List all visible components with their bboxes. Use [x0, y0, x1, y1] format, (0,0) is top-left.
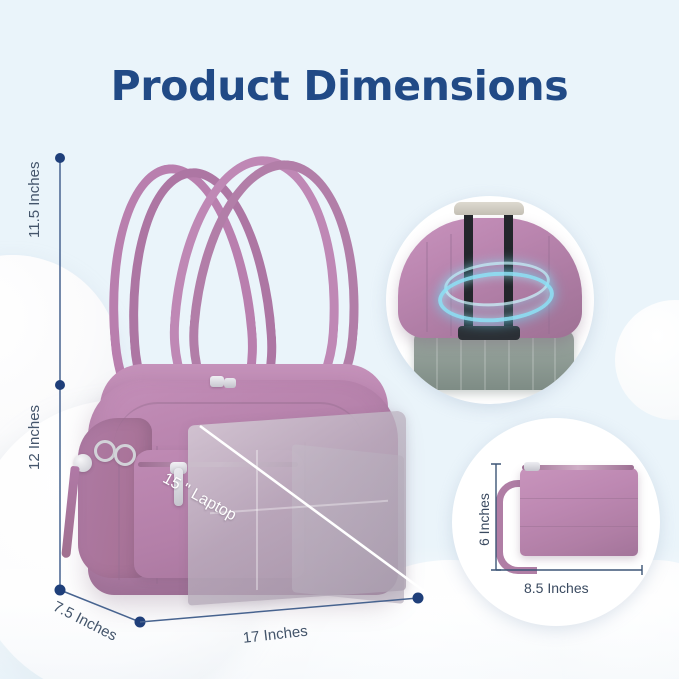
- page-title: Product Dimensions: [0, 62, 679, 110]
- trolley-handle-base: [458, 326, 520, 340]
- top-zipper-pull-icon: [224, 378, 236, 388]
- dimension-label-height-upper: 11.5 Inches: [26, 162, 43, 238]
- laptop-overlay-seam: [256, 450, 258, 590]
- product-dimensions-graphic: Product Dimensions 15 " Laptop: [0, 0, 679, 679]
- trolley-handle-grip: [454, 202, 524, 215]
- pouch-zipper-pull-icon: [524, 462, 540, 471]
- inset-trolley-sleeve: [386, 196, 594, 404]
- laptop-overlay-fold: [292, 444, 404, 604]
- top-zipper-pull-icon: [210, 376, 224, 387]
- side-strap: [61, 466, 80, 558]
- pouch-body: [520, 468, 638, 556]
- pouch-dimension-label-width: 8.5 Inches: [524, 580, 589, 596]
- inset-pouch: 6 Inches 8.5 Inches: [452, 418, 660, 626]
- d-ring-icon: [94, 440, 116, 462]
- dimension-label-height-lower: 12 Inches: [26, 405, 43, 470]
- trolley-caption-text: Trolley sleeve on back: [415, 156, 569, 158]
- background-bubble: [615, 300, 679, 420]
- bag-pleat: [118, 450, 120, 580]
- d-ring-icon: [114, 444, 136, 466]
- pouch-dimension-label-height: 6 Inches: [476, 493, 492, 546]
